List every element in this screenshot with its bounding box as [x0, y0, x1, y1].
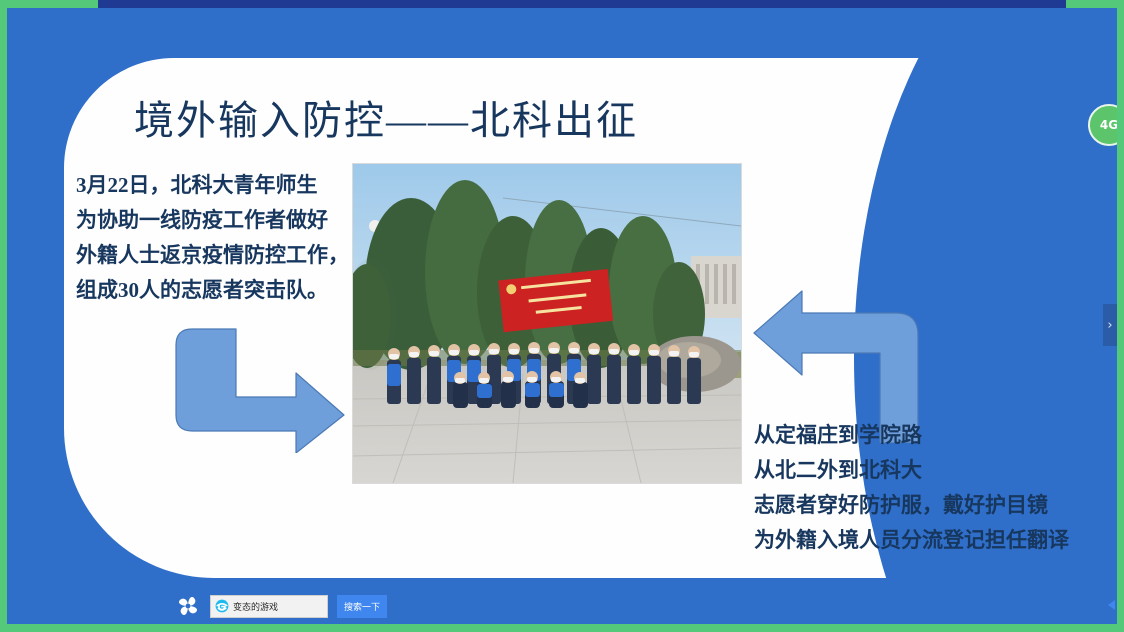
- next-slide-button[interactable]: ›: [1103, 304, 1117, 346]
- search-submit-button[interactable]: 搜索一下: [337, 595, 387, 618]
- slide-content-card: 境外输入防控——北科出征 3月22日，北科大青年师生 为协助一线防疫工作者做好 …: [64, 58, 1084, 578]
- ie-browser-icon: [215, 599, 229, 613]
- slide-title: 境外输入防控——北科出征: [134, 88, 638, 146]
- volunteer-group-photo: [352, 163, 742, 484]
- navy-strip: [98, 0, 1066, 8]
- bent-arrow-down-right-icon: [174, 323, 349, 458]
- left-paragraph-line: 3月22日，北科大青年师生: [76, 168, 371, 203]
- presentation-slide: 境外输入防控——北科出征 3月22日，北科大青年师生 为协助一线防疫工作者做好 …: [7, 8, 1117, 624]
- search-input-value[interactable]: 变态的游戏: [233, 600, 278, 613]
- right-paragraph: 从定福庄到学院路 从北二外到北科大 志愿者穿好防护服，戴好护目镜 为外籍入境人员…: [754, 418, 1084, 558]
- frame-edge-bottom: [0, 623, 1124, 632]
- sogou-pinwheel-logo-icon[interactable]: [175, 593, 201, 619]
- right-paragraph-line: 志愿者穿好防护服，戴好护目镜: [754, 488, 1084, 523]
- right-paragraph-line: 从北二外到北科大: [754, 453, 1084, 488]
- left-paragraph-line: 组成30人的志愿者突击队。: [76, 273, 371, 308]
- corner-arrow-icon[interactable]: [1108, 600, 1115, 610]
- right-paragraph-line: 为外籍入境人员分流登记担任翻译: [754, 523, 1084, 558]
- left-paragraph: 3月22日，北科大青年师生 为协助一线防疫工作者做好 外籍人士返京疫情防控工作，…: [76, 168, 371, 308]
- right-paragraph-line: 从定福庄到学院路: [754, 418, 1084, 453]
- screen: 境外输入防控——北科出征 3月22日，北科大青年师生 为协助一线防疫工作者做好 …: [0, 0, 1124, 632]
- search-overlay[interactable]: 变态的游戏 搜索一下: [175, 592, 387, 620]
- left-paragraph-line: 为协助一线防疫工作者做好: [76, 203, 371, 238]
- network-status-badge[interactable]: 4G: [1088, 104, 1117, 146]
- search-input[interactable]: 变态的游戏: [210, 595, 328, 618]
- left-paragraph-line: 外籍人士返京疫情防控工作，: [76, 238, 371, 273]
